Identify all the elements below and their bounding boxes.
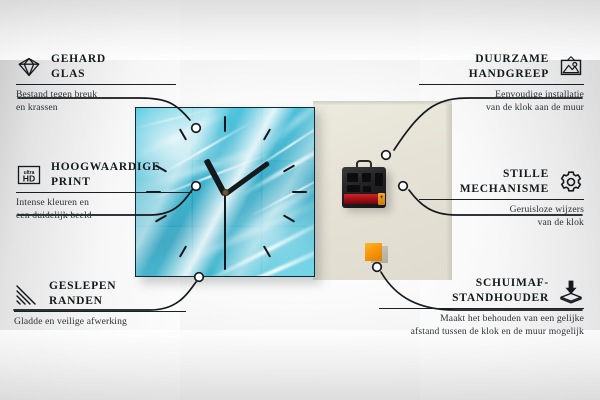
callout-divider bbox=[16, 192, 192, 193]
picture-frame-icon bbox=[558, 54, 584, 80]
callout-header: DUURZAME HANDGREEP bbox=[419, 52, 584, 81]
gear-icon bbox=[558, 169, 584, 195]
callout-stille-mechanisme[interactable]: STILLE MECHANISME Geruisloze wijzers van… bbox=[419, 167, 584, 230]
callout-title: SCHUIMAF- STANDHOUDER bbox=[452, 276, 549, 305]
infographic-canvas: + bbox=[0, 0, 600, 400]
callout-duurzame-handgreep[interactable]: DUURZAME HANDGREEP Eenvoudige installati… bbox=[419, 52, 584, 115]
callout-description: Intense kleuren en een duidelijk beeld bbox=[16, 197, 196, 222]
callout-gehard-glas[interactable]: GEHARD GLAS Bestand tegen breuk en krass… bbox=[16, 52, 181, 115]
callout-title: DUURZAME HANDGREEP bbox=[469, 52, 549, 81]
callout-description: Bestand tegen breuk en krassen bbox=[16, 89, 181, 114]
callout-header: ultra HD HOOGWAARDIGE PRINT bbox=[16, 160, 196, 189]
callout-divider bbox=[16, 84, 176, 85]
callout-header: GESLEPEN RANDEN bbox=[14, 279, 189, 308]
callout-description: Gladde en veilige afwerking bbox=[14, 316, 189, 329]
callout-title: GEHARD GLAS bbox=[51, 52, 106, 81]
callout-hoogwaardige-print[interactable]: ultra HD HOOGWAARDIGE PRINT Intense kleu… bbox=[16, 160, 196, 223]
ultra-hd-icon: ultra HD bbox=[16, 162, 42, 188]
ground-edges-icon bbox=[14, 281, 40, 307]
battery-plus-label: + bbox=[379, 196, 384, 201]
callout-divider bbox=[419, 199, 584, 200]
callout-title: HOOGWAARDIGE PRINT bbox=[51, 160, 160, 189]
callout-header: GEHARD GLAS bbox=[16, 52, 181, 81]
callout-title: STILLE MECHANISME bbox=[460, 167, 549, 196]
callout-divider bbox=[379, 308, 584, 309]
callout-description: Geruisloze wijzers van de klok bbox=[419, 204, 584, 229]
clock-center-hub bbox=[222, 189, 229, 196]
callout-divider bbox=[419, 84, 584, 85]
callout-header: STILLE MECHANISME bbox=[419, 167, 584, 196]
svg-text:HD: HD bbox=[23, 173, 35, 183]
foam-spacer bbox=[365, 243, 382, 261]
foam-spacer-icon bbox=[558, 278, 584, 304]
callout-divider bbox=[14, 311, 186, 312]
callout-title: GESLEPEN RANDEN bbox=[49, 279, 116, 308]
background-bottom-shade bbox=[0, 330, 600, 400]
diamond-icon bbox=[16, 54, 42, 80]
clock-second-hand bbox=[224, 194, 226, 256]
callout-header: SCHUIMAF- STANDHOUDER bbox=[379, 276, 584, 305]
background-top-shade bbox=[0, 0, 600, 60]
callout-schuimafstandhouder[interactable]: SCHUIMAF- STANDHOUDER Maakt het behouden… bbox=[379, 276, 584, 339]
callout-description: Maakt het behouden van een gelijke afsta… bbox=[379, 313, 584, 338]
callout-geslepen-randen[interactable]: GESLEPEN RANDEN Gladde en veilige afwerk… bbox=[14, 279, 189, 329]
callout-description: Eenvoudige installatie van de klok aan d… bbox=[419, 89, 584, 114]
